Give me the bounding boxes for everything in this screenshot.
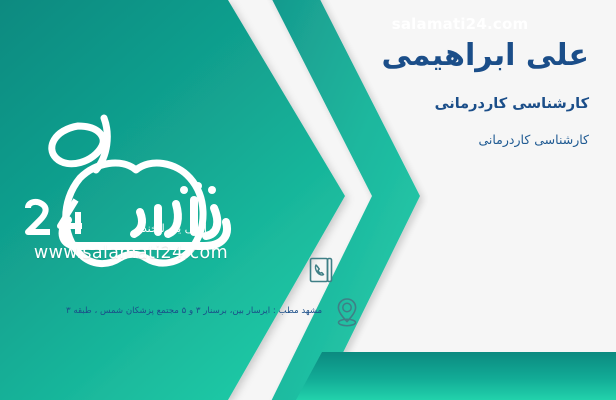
footer-bar [0, 340, 616, 400]
footer-bar-shape [296, 352, 616, 400]
contact-row-phone[interactable] [296, 252, 596, 288]
contact-row-address[interactable]: مشهد مطب : ایرسار بین، برسنار ۳ و ۵ مجتم… [66, 292, 596, 332]
brand-logo: براحتی یک لبخند www.salamati24.com [8, 104, 268, 284]
business-card: براحتی یک لبخند www.salamati24.com علی ا… [0, 0, 616, 400]
badge-24-icon [28, 200, 82, 234]
address-text: مشهد مطب : ایرسار بین، برسنار ۳ و ۵ مجتم… [66, 306, 330, 317]
person-name: علی ابراهیمی [381, 38, 589, 73]
person-role-secondary: کارشناسی کاردرمانی [478, 132, 589, 147]
brand-url: www.salamati24.com [8, 243, 254, 263]
phone-book-icon [304, 253, 338, 287]
person-role: کارشناسی کاردرمانی [435, 96, 589, 112]
brand-tagline: براحتی یک لبخند [104, 222, 254, 235]
location-pin-icon [330, 295, 364, 329]
